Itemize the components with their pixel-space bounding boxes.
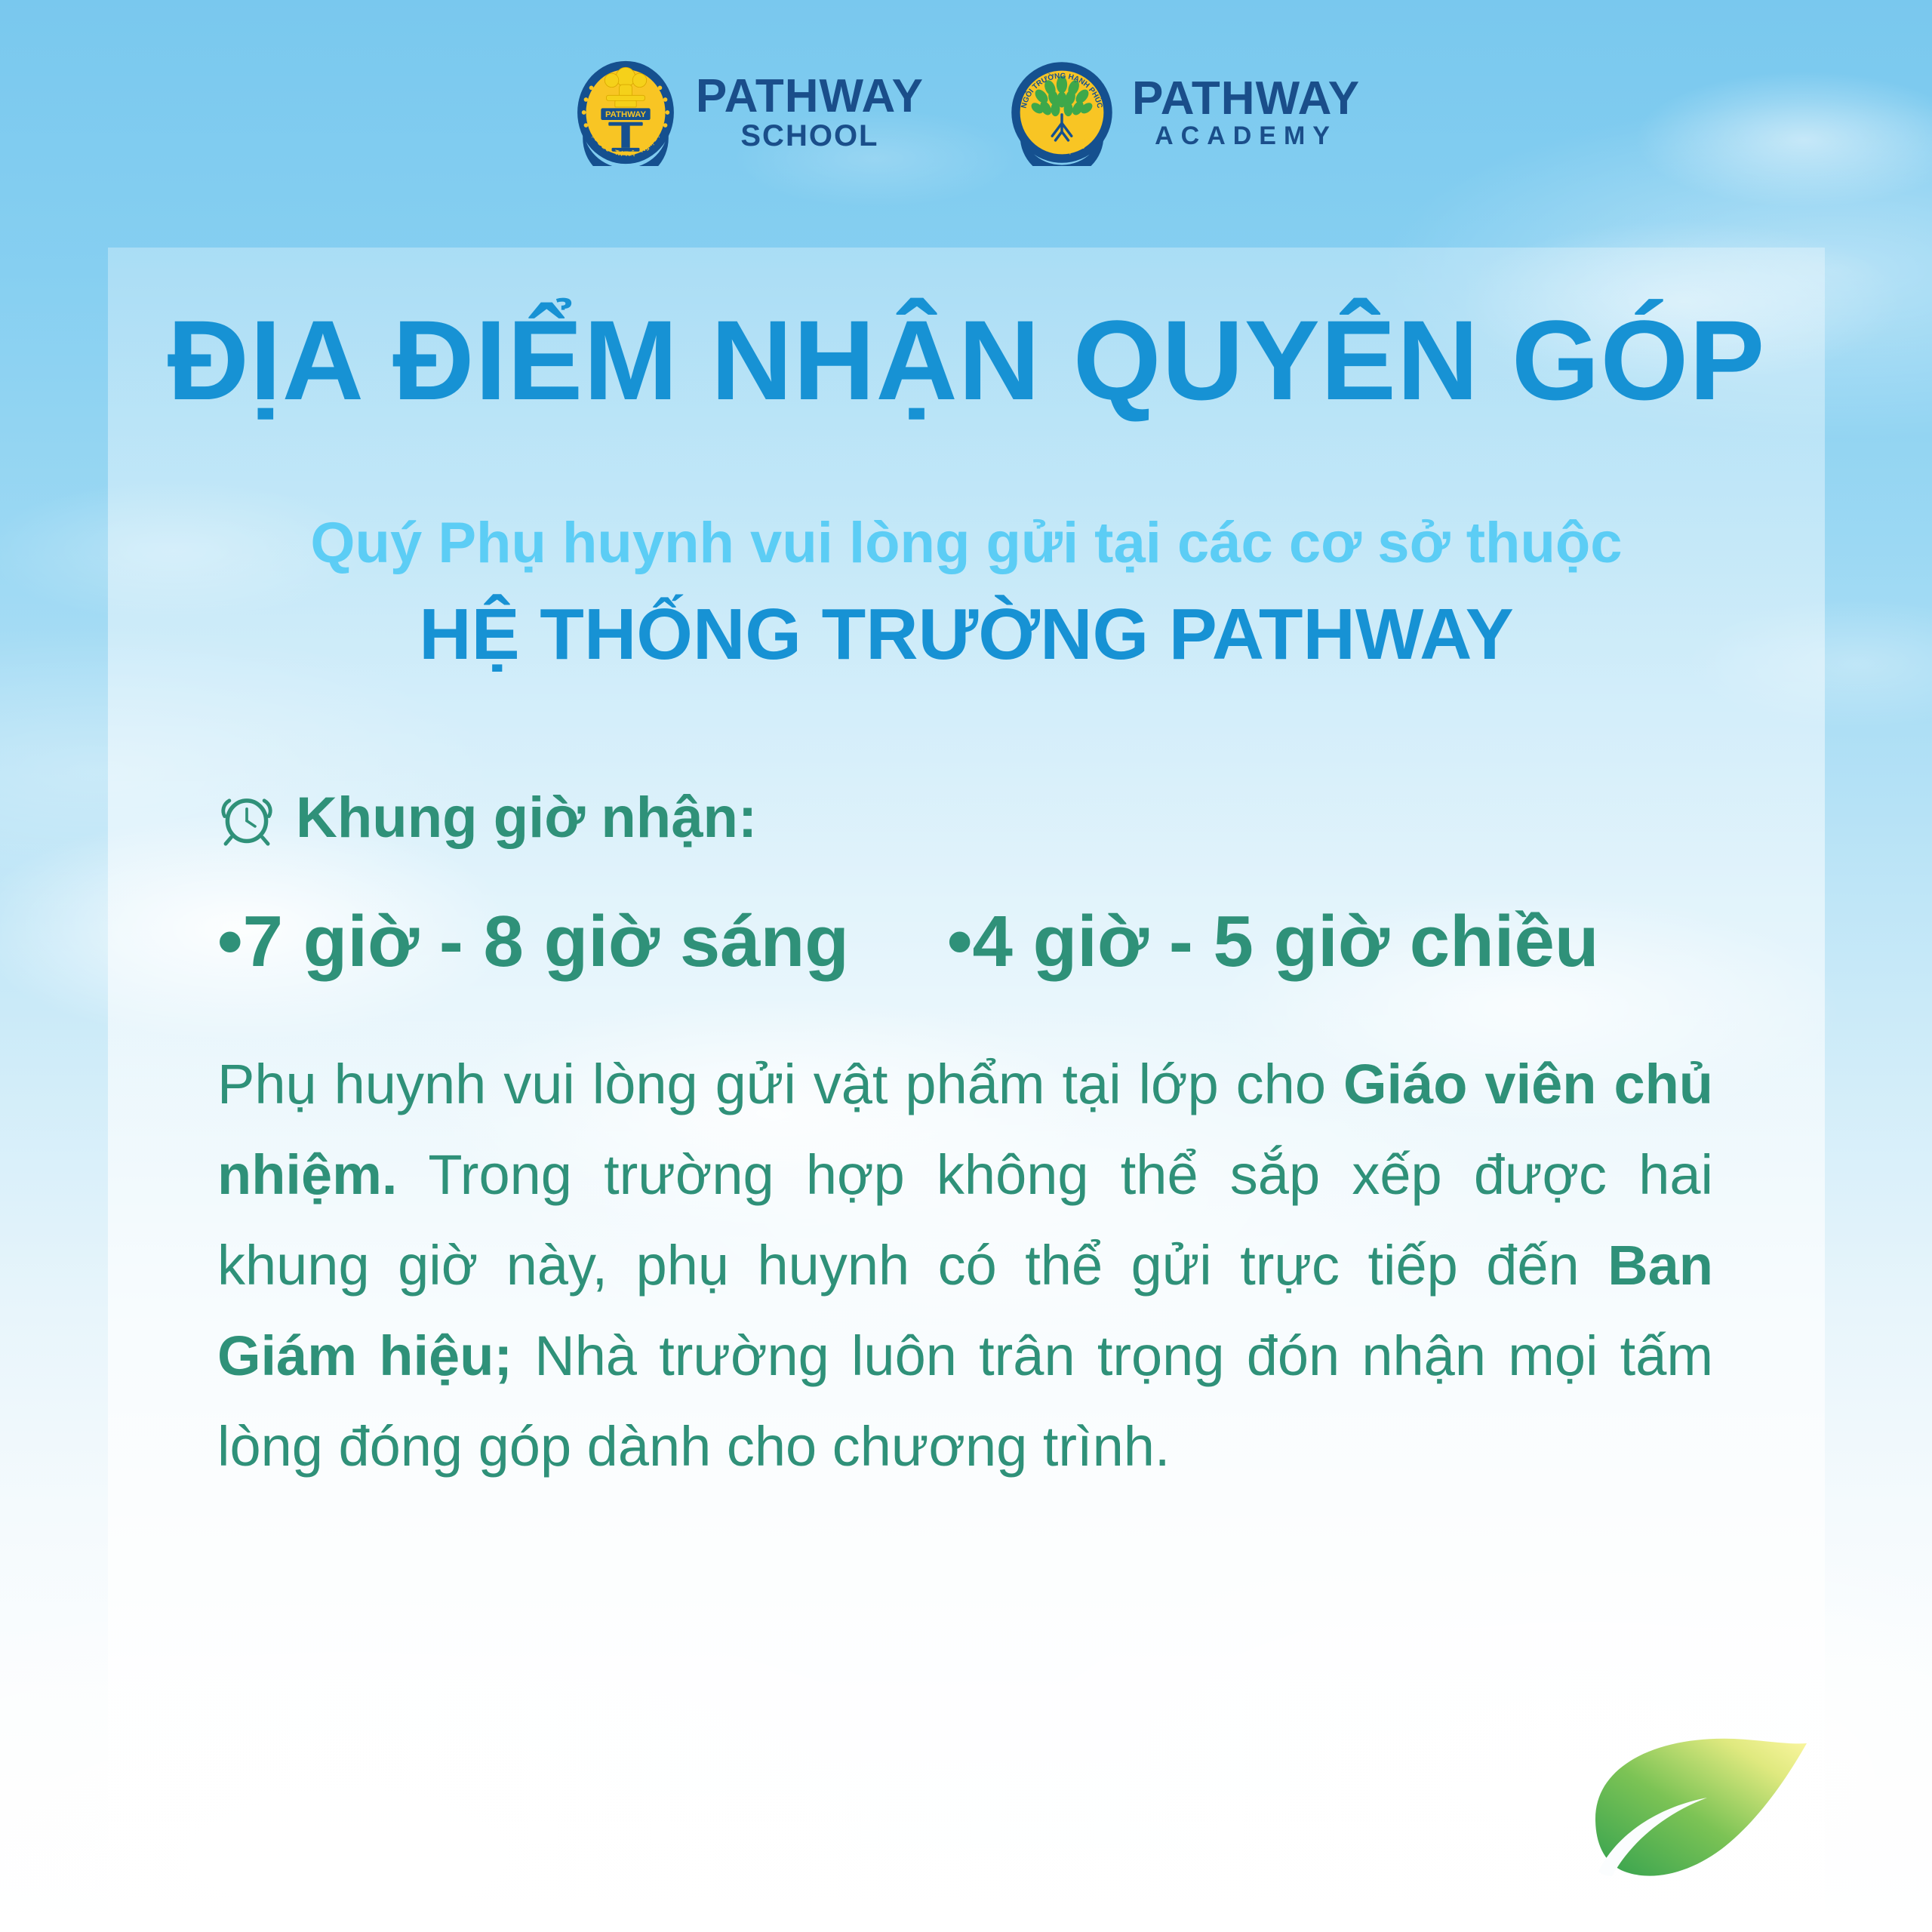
time-slot-afternoon-text: 4 giờ - 5 giờ chiều — [973, 901, 1599, 982]
bullet-morning: • — [217, 901, 243, 982]
time-slot-morning-text: 7 giờ - 8 giờ sáng — [243, 901, 849, 982]
alarm-clock-icon — [217, 789, 276, 848]
time-slot-afternoon: •4 giờ - 5 giờ chiều — [947, 900, 1599, 983]
time-slot-list: •7 giờ - 8 giờ sáng •4 giờ - 5 giờ chiều — [217, 900, 1825, 983]
pathway-academy-logo: NGÔI TRƯỜNG HẠNH PHÚC Đạo Đức - Trí Tuệ … — [1008, 59, 1360, 166]
pathway-school-crest-icon: PATHWAY Đạo Đức - Trí Tuệ - Nghị Lực — [572, 59, 679, 166]
pathway-school-wordmark-sub: SCHOOL — [696, 122, 924, 150]
donation-location-poster: PATHWAY Đạo Đức - Trí Tuệ - Nghị Lực PAT… — [0, 0, 1932, 1932]
brand-logo-bar: PATHWAY Đạo Đức - Trí Tuệ - Nghị Lực PAT… — [0, 59, 1932, 166]
subtitle-line-2: HỆ THỐNG TRƯỜNG PATHWAY — [108, 594, 1825, 675]
pathway-school-logo: PATHWAY Đạo Đức - Trí Tuệ - Nghị Lực PAT… — [572, 59, 924, 166]
paragraph-part-1: Phụ huynh vui lòng gửi vật phẩm tại lớp … — [217, 1053, 1343, 1115]
pathway-academy-wordmark-sub: ACADEMY — [1132, 125, 1360, 148]
paragraph-part-2: Trong trường hợp không thể sắp xếp được … — [217, 1143, 1713, 1297]
pathway-academy-wordmark-main: PATHWAY — [1132, 77, 1360, 120]
leaf-logo — [1586, 1728, 1813, 1917]
receiving-hours-heading: Khung giờ nhận: — [217, 785, 1825, 851]
instructions-paragraph: Phụ huynh vui lòng gửi vật phẩm tại lớp … — [217, 1039, 1713, 1491]
receiving-hours-label: Khung giờ nhận: — [296, 785, 757, 851]
bullet-afternoon: • — [947, 901, 973, 982]
poster-content: ĐỊA ĐIỂM NHẬN QUYÊN GÓP Quý Phụ huynh vu… — [108, 248, 1825, 1492]
pathway-school-wordmark-main: PATHWAY — [696, 75, 924, 118]
time-slot-morning: •7 giờ - 8 giờ sáng — [217, 900, 849, 983]
subtitle-line-1: Quý Phụ huynh vui lòng gửi tại các cơ sở… — [108, 509, 1825, 577]
subtitle-block: Quý Phụ huynh vui lòng gửi tại các cơ sở… — [108, 509, 1825, 675]
pathway-academy-crest-icon: NGÔI TRƯỜNG HẠNH PHÚC Đạo Đức - Trí Tuệ … — [1008, 59, 1115, 166]
svg-text:PATHWAY: PATHWAY — [605, 110, 646, 119]
page-title: ĐỊA ĐIỂM NHẬN QUYÊN GÓP — [108, 300, 1825, 420]
